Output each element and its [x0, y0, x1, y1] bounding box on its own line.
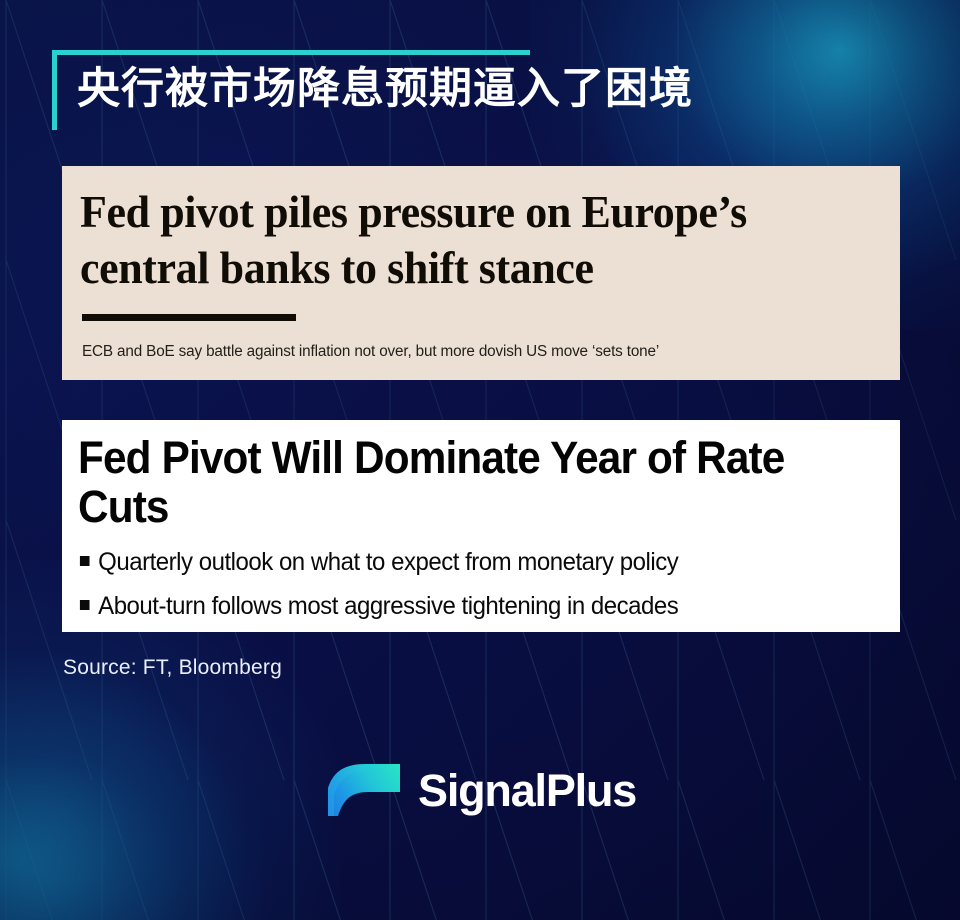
bloomberg-headline: Fed Pivot Will Dominate Year of Rate Cut…	[78, 434, 832, 531]
list-item-label: Quarterly outlook on what to expect from…	[98, 548, 678, 576]
ft-headline: Fed pivot piles pressure on Europe’s cen…	[80, 184, 840, 296]
brand-name: SignalPlus	[418, 768, 636, 813]
bloomberg-headline-card: Fed Pivot Will Dominate Year of Rate Cut…	[62, 420, 900, 632]
source-label: Source: FT, Bloomberg	[63, 656, 282, 680]
square-bullet-icon	[80, 556, 90, 566]
square-bullet-icon	[80, 600, 90, 610]
ft-headline-card: Fed pivot piles pressure on Europe’s cen…	[62, 166, 900, 380]
page-title: 央行被市场降息预期逼入了困境	[77, 65, 693, 114]
bloomberg-bullet-list: Quarterly outlook on what to expect from…	[78, 547, 880, 621]
signalplus-wave-icon	[322, 758, 406, 822]
poster-canvas: 央行被市场降息预期逼入了困境 Fed pivot piles pressure …	[0, 0, 960, 920]
list-item: Quarterly outlook on what to expect from…	[78, 547, 848, 577]
ft-subheadline: ECB and BoE say battle against inflation…	[82, 342, 864, 363]
brand-logo: SignalPlus	[322, 758, 636, 822]
ft-divider-rule	[82, 314, 296, 321]
header: 央行被市场降息预期逼入了困境	[52, 50, 872, 142]
list-item-label: About-turn follows most aggressive tight…	[98, 592, 678, 620]
list-item: About-turn follows most aggressive tight…	[78, 591, 848, 621]
